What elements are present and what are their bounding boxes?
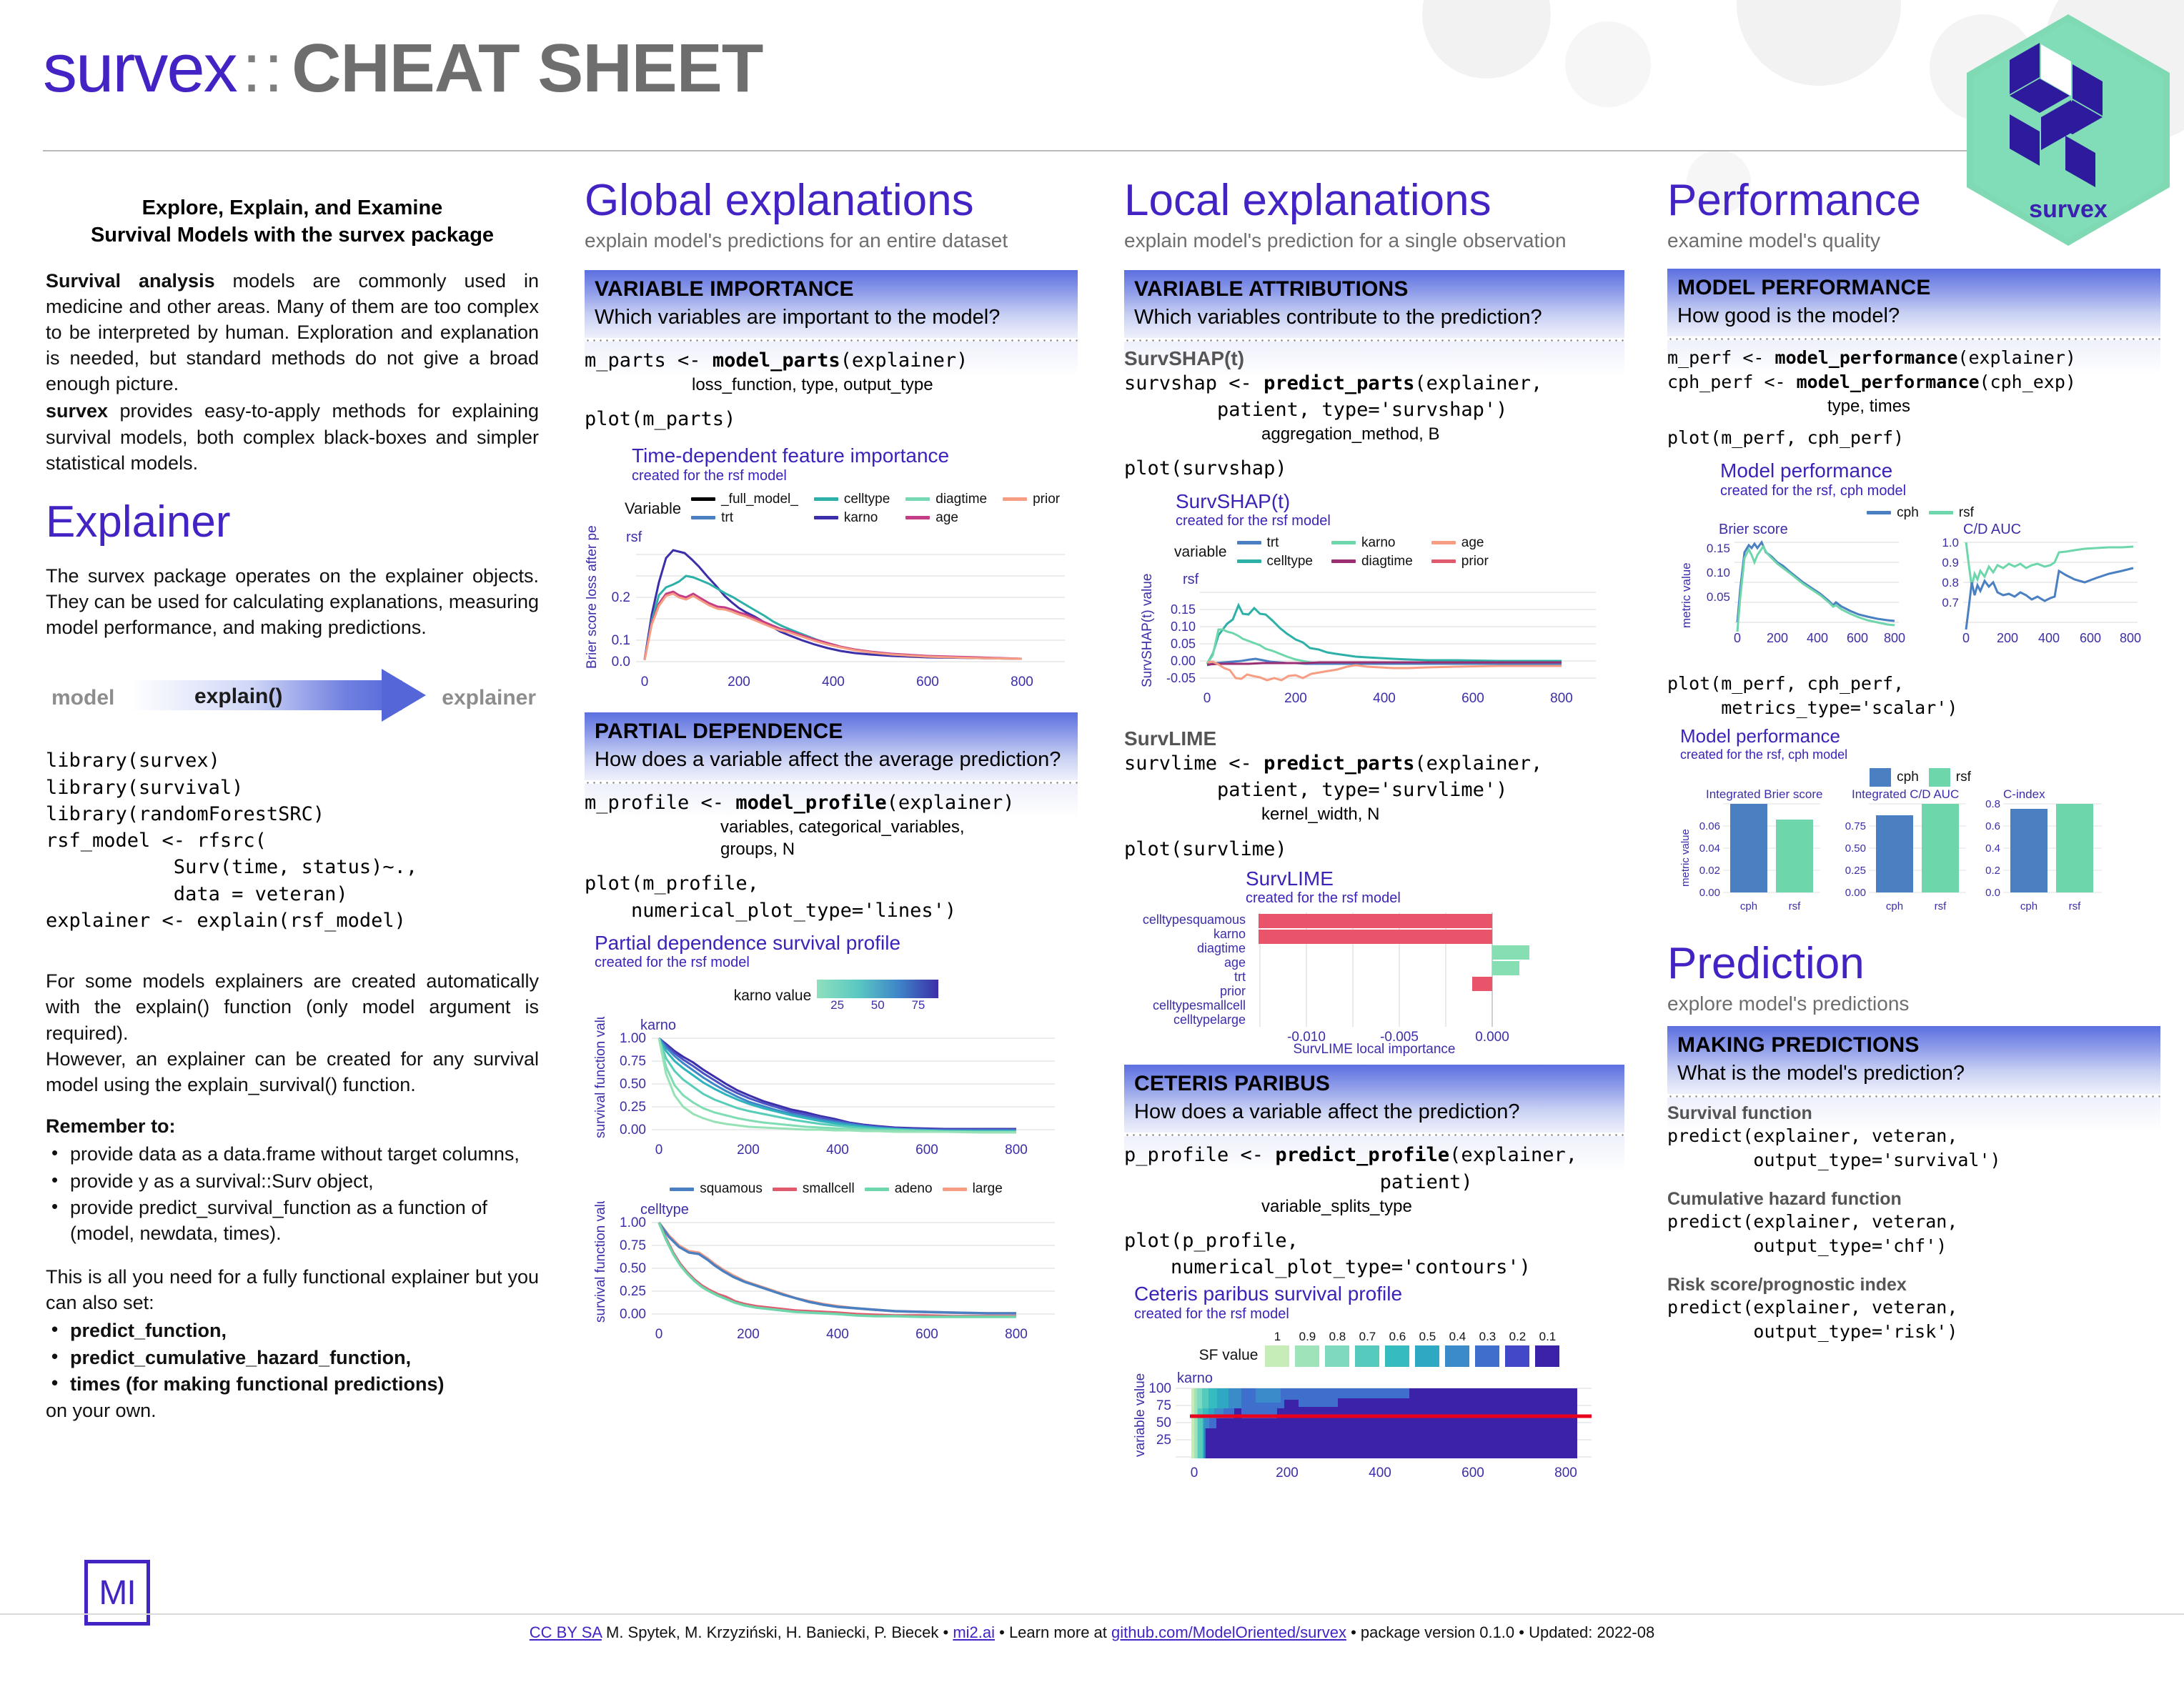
svg-text:0.00: 0.00 bbox=[620, 1123, 646, 1138]
intro-kicker: Explore, Explain, and Examine Survival M… bbox=[46, 194, 539, 249]
pd-code-line1: m_profile <- model_profile(explainer) bbox=[585, 790, 1078, 816]
mp-legend: cph rsf bbox=[1680, 505, 2160, 521]
intro-p1-bold: Survival analysis bbox=[46, 270, 215, 292]
legend-swatch-icon bbox=[905, 497, 930, 501]
panel-title: MODEL PERFORMANCE bbox=[1677, 276, 2150, 300]
prediction-subheading: explore model's predictions bbox=[1667, 992, 2160, 1016]
global-heading: Global explanations bbox=[585, 179, 1078, 223]
also-set-tail: on your own. bbox=[46, 1398, 539, 1423]
vi-code-line1: m_parts <- model_parts(explainer) bbox=[585, 347, 1078, 374]
colorbar-gradient bbox=[817, 980, 938, 998]
svg-text:0: 0 bbox=[1734, 631, 1741, 645]
legend-item: squamous bbox=[670, 1181, 763, 1197]
cp-code-assign: p_profile <- bbox=[1124, 1144, 1275, 1166]
colorbar-label: karno value bbox=[734, 987, 812, 1005]
list-item: predict_cumulative_hazard_function, bbox=[46, 1345, 539, 1371]
chart-panel-label: karno bbox=[1177, 1371, 1213, 1386]
bar bbox=[2010, 809, 2047, 892]
va-optional-args: aggregation_method, B bbox=[1261, 423, 1624, 445]
svg-text:rsf: rsf bbox=[1935, 900, 1947, 912]
chart-svg-survlime: celltypesquamous karno diagtime age trt … bbox=[1124, 907, 1624, 1042]
legend-swatch-icon bbox=[1475, 1345, 1499, 1367]
pd-code-arg: (explainer) bbox=[887, 792, 1015, 814]
chart-subtitle: created for the rsf model bbox=[1134, 1306, 1624, 1323]
svg-text:800: 800 bbox=[1005, 1327, 1028, 1342]
svg-text:0.25: 0.25 bbox=[620, 1284, 646, 1299]
legend-item: trt bbox=[691, 510, 798, 526]
explainer-heading: Explainer bbox=[46, 500, 539, 544]
legend-swatch-icon bbox=[865, 1188, 889, 1191]
mp-code-plot2: plot(m_perf, cph_perf, bbox=[1667, 672, 2160, 697]
sl-code-plot: plot(survlime) bbox=[1124, 836, 1624, 862]
legend-swatch-icon bbox=[1867, 511, 1891, 514]
svg-text:75: 75 bbox=[1156, 1398, 1171, 1413]
svg-text:400: 400 bbox=[822, 675, 845, 690]
cp-code-fn: predict_profile bbox=[1275, 1144, 1449, 1166]
mp-code-plot1: plot(m_perf, cph_perf) bbox=[1667, 426, 2160, 451]
panel-variable-attributions: VARIABLE ATTRIBUTIONS Which variables co… bbox=[1124, 270, 1624, 482]
va-code-arg: (explainer, bbox=[1414, 372, 1542, 394]
legend-swatch-icon bbox=[1445, 1345, 1469, 1367]
flow-label-explain: explain() bbox=[194, 685, 282, 709]
chart-time-dependent-feature-importance: Time-dependent feature importance create… bbox=[585, 445, 1078, 707]
intro-paragraph-1: Survival analysis models are commonly us… bbox=[46, 268, 539, 397]
svg-text:0.04: 0.04 bbox=[1699, 842, 1720, 855]
bar bbox=[1472, 977, 1492, 991]
svg-text:0.50: 0.50 bbox=[620, 1077, 646, 1092]
remember-list: provide data as a data.frame without tar… bbox=[46, 1142, 539, 1247]
legend-swatch-icon bbox=[1929, 511, 1953, 514]
svg-text:0.6: 0.6 bbox=[1985, 820, 2000, 832]
legend-swatch-icon bbox=[1355, 1345, 1379, 1367]
intro-p2-bold: survex bbox=[46, 400, 108, 422]
pred-block2-code: predict(explainer, veteran, output_type=… bbox=[1667, 1210, 2160, 1259]
flow-label-explainer: explainer bbox=[442, 686, 536, 710]
legend-swatch-icon bbox=[691, 497, 715, 501]
pred-block3-label: Risk score/prognostic index bbox=[1667, 1275, 2160, 1295]
mp-code-arg2: (cph_exp) bbox=[1980, 372, 2076, 392]
svg-text:600: 600 bbox=[2080, 631, 2101, 645]
legend-swatch-icon bbox=[1431, 559, 1456, 563]
vi-optional-args: loss_function, type, output_type bbox=[692, 374, 1078, 396]
svg-text:0.10: 0.10 bbox=[1707, 566, 1730, 579]
svg-text:200: 200 bbox=[1276, 1465, 1299, 1481]
svg-text:600: 600 bbox=[1461, 691, 1484, 706]
legend-swatch-icon bbox=[1265, 1345, 1289, 1367]
svg-text:0.75: 0.75 bbox=[620, 1238, 646, 1253]
panel-question: How does a variable affect the average p… bbox=[595, 748, 1068, 772]
explainer-code-block: library(survex) library(survival) librar… bbox=[46, 747, 539, 934]
panel-question: What is the model's prediction? bbox=[1677, 1062, 2150, 1085]
svg-text:400: 400 bbox=[826, 1327, 849, 1342]
pred-block2-label: Cumulative hazard function bbox=[1667, 1189, 2160, 1210]
svg-text:800: 800 bbox=[1550, 691, 1573, 706]
panel-question: How does a variable affect the predictio… bbox=[1134, 1100, 1614, 1124]
legend-swatch-icon bbox=[1295, 1345, 1319, 1367]
chart-subtitle: created for the rsf, cph model bbox=[1680, 747, 2160, 762]
footer-learn: • Learn more at bbox=[995, 1623, 1111, 1641]
va-code-line1: survshap <- predict_parts(explainer, bbox=[1124, 370, 1624, 397]
chart-ylabel: variable value bbox=[1134, 1373, 1148, 1457]
chart-title: Model performance bbox=[1720, 460, 2160, 481]
list-item: provide data as a data.frame without tar… bbox=[46, 1142, 539, 1168]
panel-label-cdauc: C/D AUC bbox=[1963, 522, 2021, 537]
legend-swatch-icon bbox=[1237, 541, 1261, 544]
svg-text:800: 800 bbox=[1554, 1465, 1577, 1481]
cp-code-line1: p_profile <- predict_profile(explainer, bbox=[1124, 1142, 1624, 1168]
intro-paragraph-2: survex provides easy-to-apply methods fo… bbox=[46, 398, 539, 476]
legend-item: smallcell bbox=[773, 1181, 855, 1197]
svg-text:100: 100 bbox=[1148, 1381, 1171, 1396]
bar bbox=[1259, 914, 1492, 928]
footer-version: • package version 0.1.0 • Updated: 2022-… bbox=[1346, 1623, 1654, 1641]
pred-block1-label: Survival function bbox=[1667, 1103, 2160, 1124]
bar-label: diagtime bbox=[1197, 941, 1246, 955]
bar-label: celltypesmallcell bbox=[1153, 998, 1246, 1012]
panel-question: How good is the model? bbox=[1677, 304, 2150, 328]
svg-text:0.10: 0.10 bbox=[1171, 619, 1196, 634]
bar bbox=[1259, 930, 1492, 944]
remember-label: Remember to: bbox=[46, 1113, 539, 1139]
cp-code-plot2: numerical_plot_type='contours') bbox=[1124, 1254, 1624, 1280]
sl-code-arg: (explainer, bbox=[1414, 752, 1542, 775]
svg-text:600: 600 bbox=[916, 675, 939, 690]
svg-text:-0.005: -0.005 bbox=[1380, 1030, 1419, 1042]
svg-text:cph: cph bbox=[2020, 900, 2037, 912]
bar bbox=[1876, 815, 1913, 892]
pd-code-fn: model_profile bbox=[735, 792, 886, 814]
brand-name: survex bbox=[43, 30, 237, 106]
legend-values: 1 0.9 0.8 0.7 0.6 0.5 0.4 0.3 0.2 0.1 bbox=[1265, 1330, 1559, 1344]
svg-text:0.8: 0.8 bbox=[1985, 798, 2000, 810]
chart-subtitle: created for the rsf model bbox=[1246, 890, 1624, 907]
local-heading: Local explanations bbox=[1124, 179, 1624, 223]
chart-svg-pdp-karno: survival function value karno 1.000.750.… bbox=[595, 1017, 1066, 1170]
svg-text:0.05: 0.05 bbox=[1171, 637, 1196, 651]
chart-svg-contour: variable value karno 100755025 bbox=[1134, 1371, 1620, 1493]
legend-swatch-icon bbox=[814, 516, 838, 519]
legend-swatch-icon bbox=[670, 1188, 694, 1191]
panel-title: VARIABLE IMPORTANCE bbox=[595, 277, 1068, 302]
chart-svg-mp-scalar: metric value Integrated Brier score 0.06… bbox=[1680, 787, 2152, 930]
local-subheading: explain model's prediction for a single … bbox=[1124, 229, 1624, 253]
mp-code-assign: m_perf <- bbox=[1667, 347, 1775, 368]
chart-partial-dependence: Partial dependence survival profile crea… bbox=[595, 932, 1078, 1355]
list-item: provide predict_survival_function as a f… bbox=[46, 1195, 539, 1246]
legend-item: prior bbox=[1431, 554, 1489, 569]
explainer-paragraph-1: The survex package operates on the expla… bbox=[46, 563, 539, 641]
mp-code-plot3: metrics_type='scalar') bbox=[1667, 696, 2160, 721]
svg-text:400: 400 bbox=[1807, 631, 1828, 645]
footer-authors: M. Spytek, M. Krzyziński, H. Baniecki, P… bbox=[602, 1623, 953, 1641]
svg-text:200: 200 bbox=[1767, 631, 1788, 645]
repo-link[interactable]: github.com/ModelOriented/survex bbox=[1111, 1623, 1346, 1641]
panel-title: CETERIS PARIBUS bbox=[1134, 1072, 1614, 1096]
pd-code-line2: plot(m_profile, bbox=[585, 870, 1078, 897]
legend-title: variable bbox=[1174, 544, 1227, 561]
chart-title: SurvSHAP(t) bbox=[1176, 491, 1624, 512]
chart-ylabel: metric value bbox=[1680, 829, 1692, 887]
svg-text:0.75: 0.75 bbox=[620, 1054, 646, 1069]
pd-optional-args-1: variables, categorical_variables, bbox=[720, 816, 1078, 838]
legend-item: age bbox=[1431, 535, 1489, 551]
svg-text:600: 600 bbox=[915, 1143, 938, 1158]
chart-panel-label: rsf bbox=[626, 529, 642, 545]
sl-optional-args: kernel_width, N bbox=[1261, 803, 1624, 825]
mp-scalar-legend: cph rsf bbox=[1680, 768, 2160, 787]
list-item: provide y as a survival::Surv object, bbox=[46, 1169, 539, 1195]
chart-subtitle: created for the rsf model bbox=[595, 955, 1078, 971]
legend-item: prior bbox=[1003, 492, 1060, 507]
svg-text:0.15: 0.15 bbox=[1707, 542, 1730, 555]
mi2-link[interactable]: mi2.ai bbox=[953, 1623, 995, 1641]
pdp-celltype-legend: squamous smallcell adeno large bbox=[595, 1181, 1078, 1197]
mp-code-line1: m_perf <- model_performance(explainer) bbox=[1667, 346, 2160, 371]
svg-text:200: 200 bbox=[1997, 631, 2018, 645]
svg-text:400: 400 bbox=[1369, 1465, 1391, 1481]
cp-code-arg: (explainer, bbox=[1449, 1144, 1577, 1166]
svg-text:0.00: 0.00 bbox=[1171, 654, 1196, 668]
svg-text:0: 0 bbox=[1191, 1465, 1198, 1481]
chart-title: Ceteris paribus survival profile bbox=[1134, 1283, 1624, 1304]
page-title: survex::CHEAT SHEET bbox=[43, 34, 1222, 103]
svg-text:0: 0 bbox=[655, 1327, 663, 1342]
prediction-heading: Prediction bbox=[1667, 942, 2160, 986]
panel-variable-importance: VARIABLE IMPORTANCE Which variables are … bbox=[585, 270, 1078, 433]
chart-svg-feature-importance: Brier score loss after permutations rsf … bbox=[585, 526, 1078, 705]
svg-text:0.00: 0.00 bbox=[1699, 887, 1720, 899]
mp-code-assign2: cph_perf <- bbox=[1667, 372, 1797, 392]
list-item: predict_function, bbox=[46, 1318, 539, 1344]
flow-label-model: model bbox=[51, 686, 114, 710]
legend-title: SF value bbox=[1199, 1347, 1259, 1367]
panel-title: PARTIAL DEPENDENCE bbox=[595, 720, 1068, 744]
decor-circle bbox=[1565, 21, 1651, 107]
chart-panel-label: rsf bbox=[1183, 572, 1199, 587]
bar-label: age bbox=[1224, 955, 1246, 970]
svg-text:0.02: 0.02 bbox=[1699, 865, 1720, 877]
intro-kicker-line2: Survival Models with the survex package bbox=[46, 222, 539, 249]
panel-partial-dependence: PARTIAL DEPENDENCE How does a variable a… bbox=[585, 712, 1078, 924]
survlime-block: SurvLIME survlime <- predict_parts(expla… bbox=[1124, 727, 1624, 862]
legend-item: trt bbox=[1237, 535, 1313, 551]
performance-heading: Performance bbox=[1667, 179, 2160, 223]
svg-text:50: 50 bbox=[1156, 1415, 1171, 1430]
decor-circle bbox=[1422, 0, 1551, 79]
va-code-fn: predict_parts bbox=[1264, 372, 1414, 394]
cp-code-line2: patient) bbox=[1124, 1169, 1624, 1195]
panel-making-predictions: MAKING PREDICTIONS What is the model's p… bbox=[1667, 1026, 2160, 1345]
pred-block3-code: predict(explainer, veteran, output_type=… bbox=[1667, 1295, 2160, 1345]
legend-item: diagtime bbox=[905, 492, 987, 507]
pd-optional-args-2: groups, N bbox=[720, 838, 1078, 860]
bar-label: celltypelarge bbox=[1173, 1012, 1246, 1027]
chart-subtitle: created for the rsf model bbox=[1176, 513, 1624, 529]
svg-text:0.50: 0.50 bbox=[620, 1261, 646, 1276]
chart-model-performance-scalar: Model performance created for the rsf, c… bbox=[1680, 727, 2160, 933]
mi2-logo: MI bbox=[84, 1560, 150, 1626]
legend-item: karno bbox=[1331, 535, 1413, 551]
chart-ylabel: metric value bbox=[1680, 562, 1693, 628]
bar bbox=[1492, 945, 1529, 960]
panel-label-brier: Brier score bbox=[1719, 522, 1788, 537]
pd-code-line3: numerical_plot_type='lines') bbox=[585, 897, 1078, 924]
chart-title: Time-dependent feature importance bbox=[632, 445, 1078, 466]
svg-text:0.25: 0.25 bbox=[620, 1100, 646, 1115]
svg-text:0.15: 0.15 bbox=[1171, 602, 1196, 617]
svg-text:0.2: 0.2 bbox=[612, 590, 630, 605]
svg-text:800: 800 bbox=[2120, 631, 2141, 645]
chart-svg-survshap: SurvSHAP(t) value rsf 0.150.100.050.00-0… bbox=[1141, 569, 1606, 720]
legend-swatch-icon bbox=[1870, 768, 1891, 787]
legend-item: age bbox=[905, 510, 987, 526]
mp-code-arg: (explainer) bbox=[1957, 347, 2076, 368]
svg-text:rsf: rsf bbox=[2069, 900, 2081, 912]
legend-swatch-icon bbox=[773, 1188, 797, 1191]
pred-block1-code: predict(explainer, veteran, output_type=… bbox=[1667, 1124, 2160, 1173]
va-code-plot: plot(survshap) bbox=[1124, 455, 1624, 482]
intro-kicker-line1: Explore, Explain, and Examine bbox=[46, 194, 539, 222]
legend-swatch-icon bbox=[814, 497, 838, 501]
sl-code-line1: survlime <- predict_parts(explainer, bbox=[1124, 750, 1624, 777]
legend-swatch-icon bbox=[1325, 1345, 1349, 1367]
mp-code-fn: model_performance bbox=[1775, 347, 1958, 368]
license-link[interactable]: CC BY SA bbox=[530, 1623, 602, 1641]
legend-swatch-icon bbox=[905, 516, 930, 519]
bar-label: karno bbox=[1213, 927, 1246, 941]
pd-code-assign: m_profile <- bbox=[585, 792, 735, 814]
chart-title: Partial dependence survival profile bbox=[595, 932, 1078, 953]
svg-text:0.0: 0.0 bbox=[1985, 887, 2000, 899]
legend-swatch-icon bbox=[1331, 559, 1356, 563]
legend-item: rsf bbox=[1929, 505, 1974, 521]
chart-xlabel: SurvLIME local importance bbox=[1124, 1042, 1624, 1058]
svg-text:0: 0 bbox=[655, 1143, 663, 1158]
column-local-explanations: Local explanations explain model's predi… bbox=[1124, 179, 1624, 1496]
sl-code-line2: patient, type='survlime') bbox=[1124, 777, 1624, 803]
svg-text:0.000: 0.000 bbox=[1475, 1030, 1509, 1042]
legend-item: large bbox=[943, 1181, 1003, 1197]
svg-text:cph: cph bbox=[1886, 900, 1903, 912]
va-code-assign: survshap <- bbox=[1124, 372, 1264, 394]
legend-title: Variable bbox=[625, 499, 681, 518]
svg-text:0.00: 0.00 bbox=[620, 1307, 646, 1322]
cheatsheet-page: survex::CHEAT SHEET survex bbox=[0, 0, 2184, 1687]
chart-svg-pdp-celltype: survival function value celltype 1.000.7… bbox=[595, 1201, 1066, 1351]
list-item: times (for making functional predictions… bbox=[46, 1372, 539, 1398]
va-code-line2: patient, type='survshap') bbox=[1124, 397, 1624, 423]
mp-code-fn2: model_performance bbox=[1797, 372, 1980, 392]
bar bbox=[1492, 961, 1519, 975]
svg-text:0.0: 0.0 bbox=[612, 655, 630, 670]
explainer-paragraph-2: For some models explainers are created a… bbox=[46, 968, 539, 1098]
intro-p2-rest: provides easy-to-apply methods for expla… bbox=[46, 400, 539, 473]
survlime-label: SurvLIME bbox=[1124, 727, 1624, 750]
column-global-explanations: Global explanations explain model's pred… bbox=[585, 179, 1078, 1355]
chart-title: SurvLIME bbox=[1246, 868, 1624, 889]
vi-code-line2: plot(m_parts) bbox=[585, 406, 1078, 432]
chart-survlime: SurvLIME created for the rsf model cellt… bbox=[1124, 868, 1624, 1058]
svg-text:600: 600 bbox=[1847, 631, 1868, 645]
svg-text:200: 200 bbox=[737, 1143, 760, 1158]
panel-label-icdauc: Integrated C/D AUC bbox=[1852, 787, 1959, 801]
vi-code-fn: model_parts bbox=[713, 349, 840, 372]
decor-circle bbox=[1737, 0, 1901, 86]
sf-value-legend: SF value 1 0.9 0.8 0.7 0.6 0.5 0.4 0.3 0… bbox=[1134, 1330, 1624, 1367]
bar-label: trt bbox=[1234, 970, 1246, 984]
svg-text:0.75: 0.75 bbox=[1845, 820, 1866, 832]
svg-text:rsf: rsf bbox=[1789, 900, 1801, 912]
svg-text:0.06: 0.06 bbox=[1699, 820, 1720, 832]
mp-code-line2: cph_perf <- model_performance(cph_exp) bbox=[1667, 370, 2160, 395]
panel-model-performance: MODEL PERFORMANCE How good is the model?… bbox=[1667, 269, 2160, 451]
legend-item: rsf bbox=[1929, 768, 1971, 787]
svg-text:25: 25 bbox=[1156, 1433, 1171, 1448]
legend-item: cph bbox=[1867, 505, 1919, 521]
svg-text:0.00: 0.00 bbox=[1845, 887, 1866, 899]
chart-subtitle: created for the rsf model bbox=[632, 468, 1078, 484]
panel-title: MAKING PREDICTIONS bbox=[1677, 1033, 2150, 1058]
chart-ylabel: survival function value bbox=[595, 1201, 608, 1323]
explain-flow-diagram: model explain() explainer bbox=[46, 665, 539, 726]
footer: CC BY SA M. Spytek, M. Krzyziński, H. Ba… bbox=[0, 1623, 2184, 1642]
panel-ceteris-paribus: CETERIS PARIBUS How does a variable affe… bbox=[1124, 1065, 1624, 1280]
legend-item: celltype bbox=[814, 492, 890, 507]
svg-text:0.50: 0.50 bbox=[1845, 842, 1866, 855]
chart-survshap: SurvSHAP(t) created for the rsf model va… bbox=[1141, 491, 1624, 723]
svg-text:0.9: 0.9 bbox=[1942, 556, 1959, 569]
legend-swatch-icon bbox=[1385, 1345, 1409, 1367]
svg-text:0.7: 0.7 bbox=[1942, 596, 1959, 609]
svg-text:0: 0 bbox=[1203, 691, 1211, 706]
bar bbox=[1730, 804, 1767, 892]
svg-text:1.00: 1.00 bbox=[620, 1215, 646, 1230]
brand-colons: :: bbox=[237, 30, 292, 106]
panel-label-cindex: C-index bbox=[2003, 787, 2045, 801]
bar bbox=[1922, 804, 1959, 892]
vi-code-assign: m_parts <- bbox=[585, 349, 713, 372]
svg-text:cph: cph bbox=[1740, 900, 1757, 912]
chart-subtitle: created for the rsf, cph model bbox=[1720, 483, 2160, 499]
panel-title: VARIABLE ATTRIBUTIONS bbox=[1134, 277, 1614, 302]
svg-text:0: 0 bbox=[1962, 631, 1970, 645]
panel-question: Which variables contribute to the predic… bbox=[1134, 306, 1614, 329]
svg-text:0.1: 0.1 bbox=[612, 633, 630, 648]
svg-text:400: 400 bbox=[1373, 691, 1396, 706]
column-intro: Explore, Explain, and Examine Survival M… bbox=[46, 179, 539, 1423]
cp-optional-args: variable_splits_type bbox=[1261, 1195, 1624, 1218]
legend-swatch-icon bbox=[943, 1188, 967, 1191]
svg-text:0.25: 0.25 bbox=[1845, 865, 1866, 877]
legend-item: _full_model_ bbox=[691, 492, 798, 507]
svg-text:0.8: 0.8 bbox=[1942, 576, 1959, 589]
svg-text:0: 0 bbox=[641, 675, 649, 690]
chart-ylabel: Brier score loss after permutations bbox=[585, 526, 600, 669]
svg-text:1.0: 1.0 bbox=[1942, 536, 1959, 549]
header-divider bbox=[43, 150, 2144, 151]
svg-text:600: 600 bbox=[915, 1327, 938, 1342]
also-set-label: This is all you need for a fully functio… bbox=[46, 1264, 539, 1315]
sl-code-assign: survlime <- bbox=[1124, 752, 1264, 775]
also-set-list: predict_function, predict_cumulative_haz… bbox=[46, 1318, 539, 1398]
svg-text:200: 200 bbox=[737, 1327, 760, 1342]
svg-text:0.2: 0.2 bbox=[1985, 865, 2000, 877]
performance-subheading: examine model's quality bbox=[1667, 229, 2160, 253]
global-subheading: explain model's predictions for an entir… bbox=[585, 229, 1078, 253]
svg-text:-0.010: -0.010 bbox=[1287, 1030, 1326, 1042]
legend-swatch-icon bbox=[1431, 541, 1456, 544]
svg-text:800: 800 bbox=[1011, 675, 1033, 690]
